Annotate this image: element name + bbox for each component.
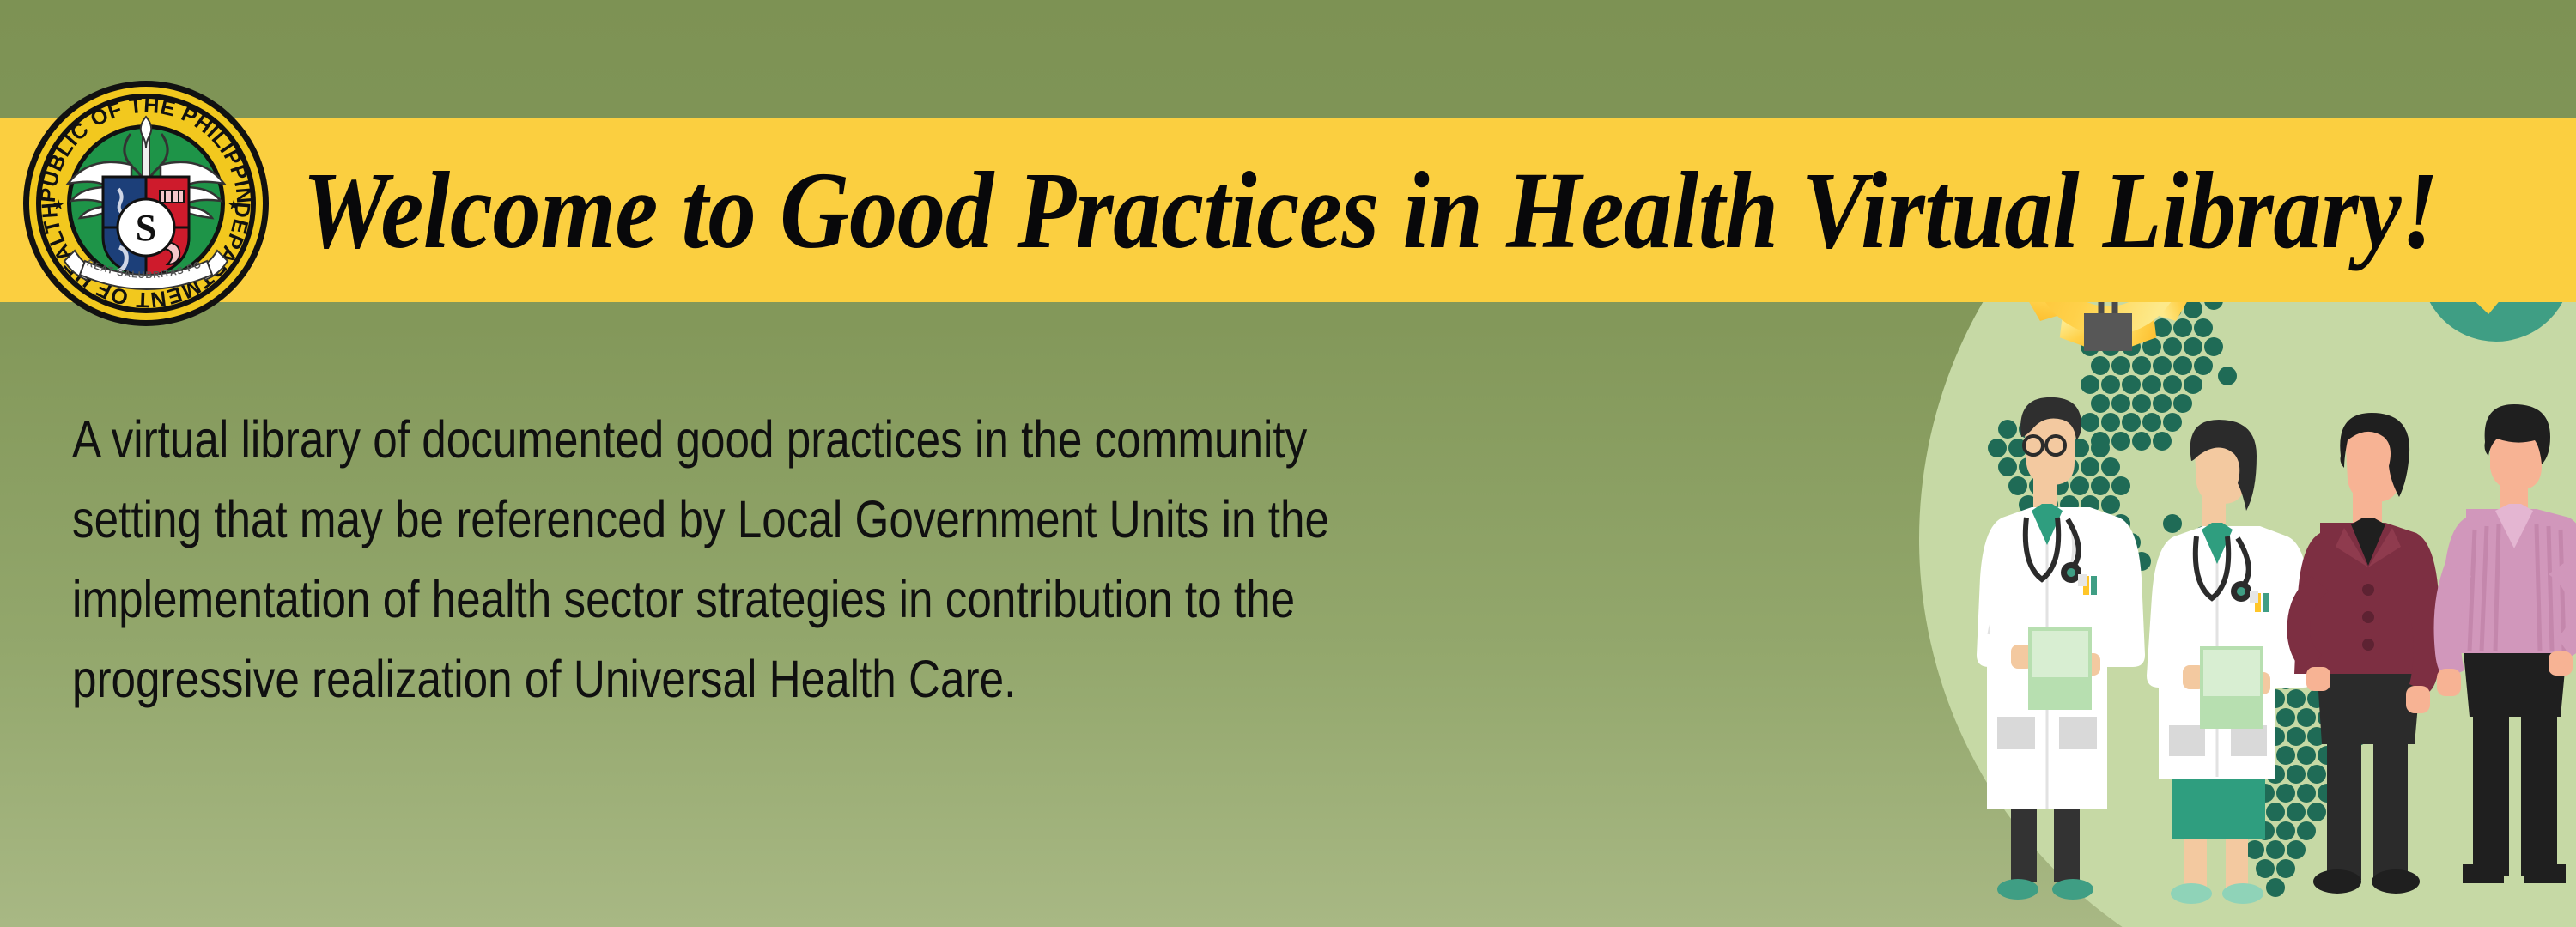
welcome-banner: Welcome to Good Practices in Health Virt… xyxy=(0,0,2576,927)
svg-text:★: ★ xyxy=(228,198,240,213)
svg-text:S: S xyxy=(136,207,156,249)
svg-text:★: ★ xyxy=(52,198,64,213)
woman-maroon-blazer xyxy=(2287,413,2442,894)
female-doctor xyxy=(2147,420,2315,904)
banner-description: A virtual library of documented good pra… xyxy=(72,400,1601,719)
people-group xyxy=(1958,397,2576,927)
male-doctor xyxy=(1977,397,2145,900)
doh-seal-icon: REPUBLIC OF THE PHILIPPINES DEPARTMENT O… xyxy=(21,79,270,328)
page-title: Welcome to Good Practices in Health Virt… xyxy=(302,122,2282,299)
man-pink-barong xyxy=(2434,404,2576,883)
